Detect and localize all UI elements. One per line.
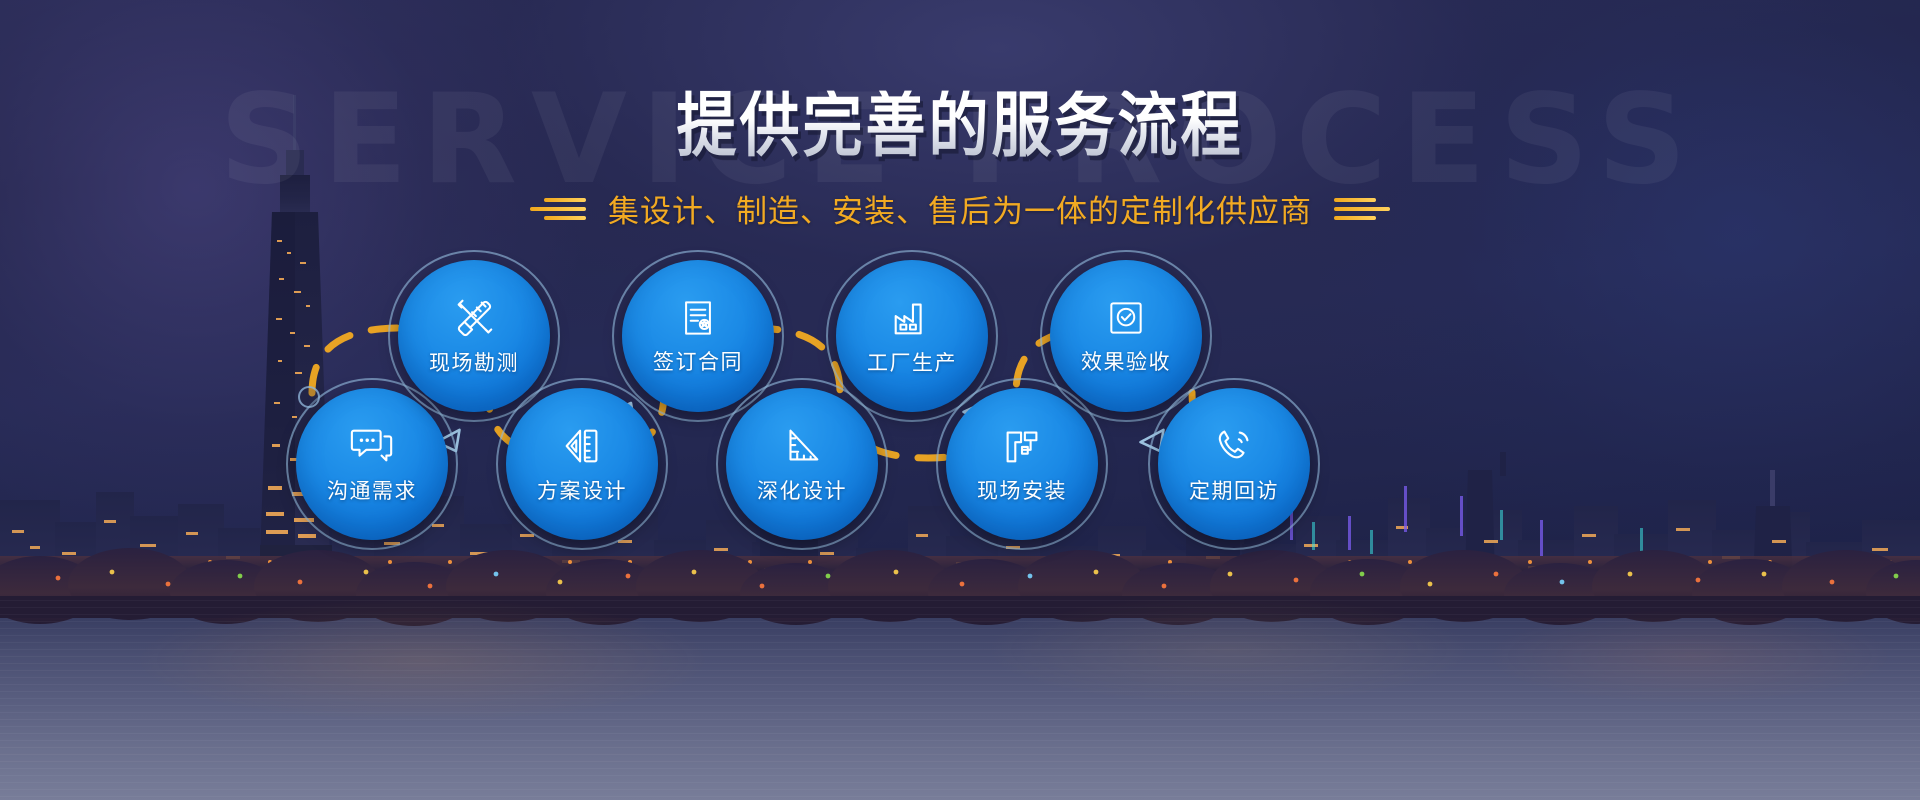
factory-icon xyxy=(889,295,935,341)
step-label: 现场安装 xyxy=(977,475,1067,505)
design-ruler-icon xyxy=(559,423,605,469)
process-step-9[interactable]: 定期回访 xyxy=(1148,378,1320,550)
water-reflection xyxy=(0,600,1920,800)
step-label: 定期回访 xyxy=(1189,475,1279,505)
phone-call-icon xyxy=(1211,423,1257,469)
page-title: 提供完善的服务流程 xyxy=(0,96,1920,156)
step-label: 效果验收 xyxy=(1081,346,1171,376)
page-title-text: 提供完善的服务流程 xyxy=(677,91,1244,162)
subtitle-row: 集设计、制造、安装、售后为一体的定制化供应商 xyxy=(0,186,1920,231)
set-square-icon xyxy=(779,423,825,469)
step-label: 签订合同 xyxy=(653,346,743,376)
step-disc[interactable]: 定期回访 xyxy=(1158,388,1310,540)
step-label: 沟通需求 xyxy=(327,475,417,505)
contract-document-icon xyxy=(676,296,720,340)
subtitle-decoration-left xyxy=(530,198,586,220)
chat-bubble-icon xyxy=(349,423,395,469)
checked-board-icon xyxy=(1104,296,1148,340)
step-label: 现场勘测 xyxy=(429,347,519,377)
banner-stage: SERVICE PROCESS 提供完善的服务流程 集设计、制造、安装、售后为一… xyxy=(0,0,1920,800)
step-ring-dot xyxy=(298,386,320,408)
step-label: 工厂生产 xyxy=(867,347,957,377)
subtitle-text: 集设计、制造、安装、售后为一体的定制化供应商 xyxy=(608,186,1312,231)
step-label: 深化设计 xyxy=(757,475,847,505)
subtitle-decoration-right xyxy=(1334,198,1390,220)
install-tool-icon xyxy=(999,423,1045,469)
process-flow: 沟通需求 现场勘测 xyxy=(0,250,1920,550)
step-label: 方案设计 xyxy=(537,475,627,505)
ruler-pencil-icon xyxy=(451,295,497,341)
